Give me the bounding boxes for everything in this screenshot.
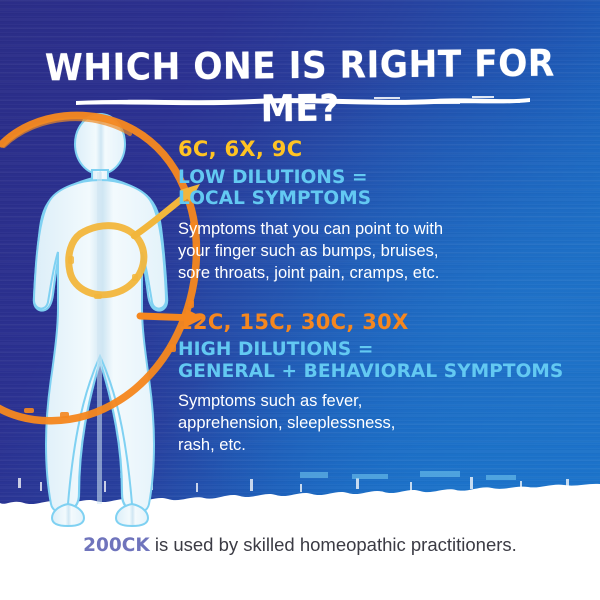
infographic-canvas: WHICH ONE IS RIGHT FOR ME? 6C, 6X, 9C LO… (0, 0, 600, 600)
section-high-dilutions: 12C, 15C, 30C, 30X HIGH DILUTIONS = GENE… (178, 311, 584, 458)
body-text-low: Symptoms that you can point to with your… (178, 219, 584, 285)
subheading-high: HIGH DILUTIONS = GENERAL + BEHAVIORAL SY… (178, 339, 584, 382)
dilution-sections: 6C, 6X, 9C LOW DILUTIONS = LOCAL SYMPTOM… (178, 138, 584, 475)
subheading-low: LOW DILUTIONS = LOCAL SYMPTOMS (178, 167, 584, 210)
section-low-dilutions: 6C, 6X, 9C LOW DILUTIONS = LOCAL SYMPTOM… (178, 138, 584, 285)
potency-list-low: 6C, 6X, 9C (178, 138, 584, 162)
body-text-high: Symptoms such as fever, apprehension, sl… (178, 391, 584, 457)
title-brush-underline (74, 94, 532, 106)
page-title: WHICH ONE IS RIGHT FOR ME? (21, 41, 580, 132)
potency-200ck: 200CK (83, 535, 150, 556)
footer-note: 200CK is used by skilled homeopathic pra… (0, 534, 600, 556)
footer-text: is used by skilled homeopathic practitio… (150, 534, 517, 555)
orange-brush-circle (0, 115, 204, 420)
potency-list-high: 12C, 15C, 30C, 30X (178, 311, 584, 335)
